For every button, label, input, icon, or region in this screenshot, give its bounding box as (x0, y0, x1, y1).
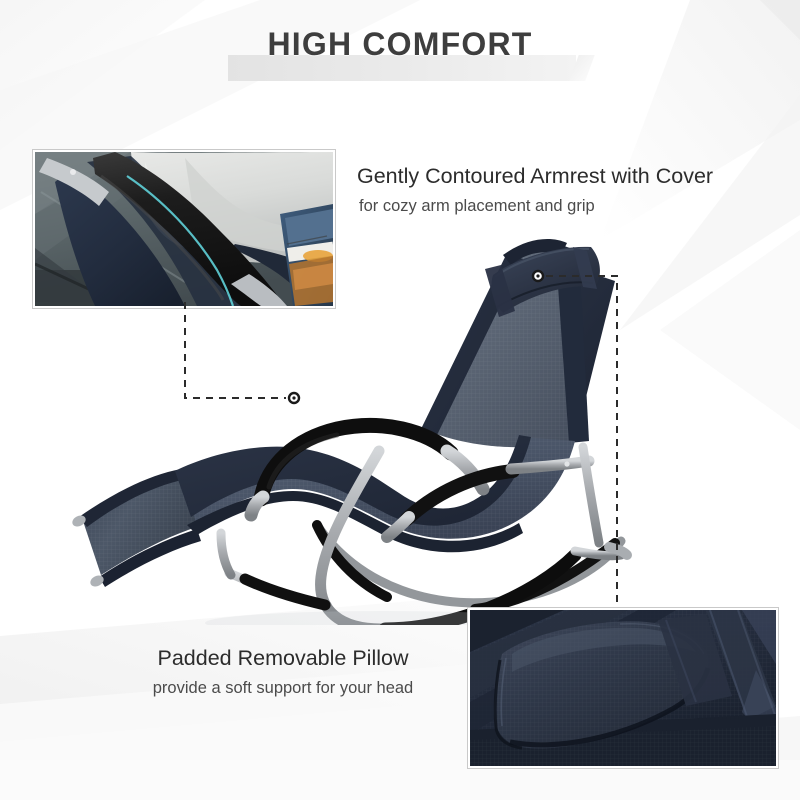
product-image-rocking-lounger (55, 225, 655, 625)
callout-pillow-subline: provide a soft support for your head (108, 678, 458, 699)
infographic-page: HIGH COMFORT (0, 0, 800, 800)
callout-pillow: Padded Removable Pillow provide a soft s… (108, 645, 458, 699)
callout-pillow-headline: Padded Removable Pillow (108, 645, 458, 672)
inset-photo-pillow (468, 608, 778, 768)
callout-armrest-subline: for cozy arm placement and grip (359, 196, 713, 217)
page-title: HIGH COMFORT (0, 26, 800, 63)
callout-armrest-headline: Gently Contoured Armrest with Cover (357, 163, 713, 190)
callout-armrest: Gently Contoured Armrest with Cover for … (357, 163, 713, 217)
